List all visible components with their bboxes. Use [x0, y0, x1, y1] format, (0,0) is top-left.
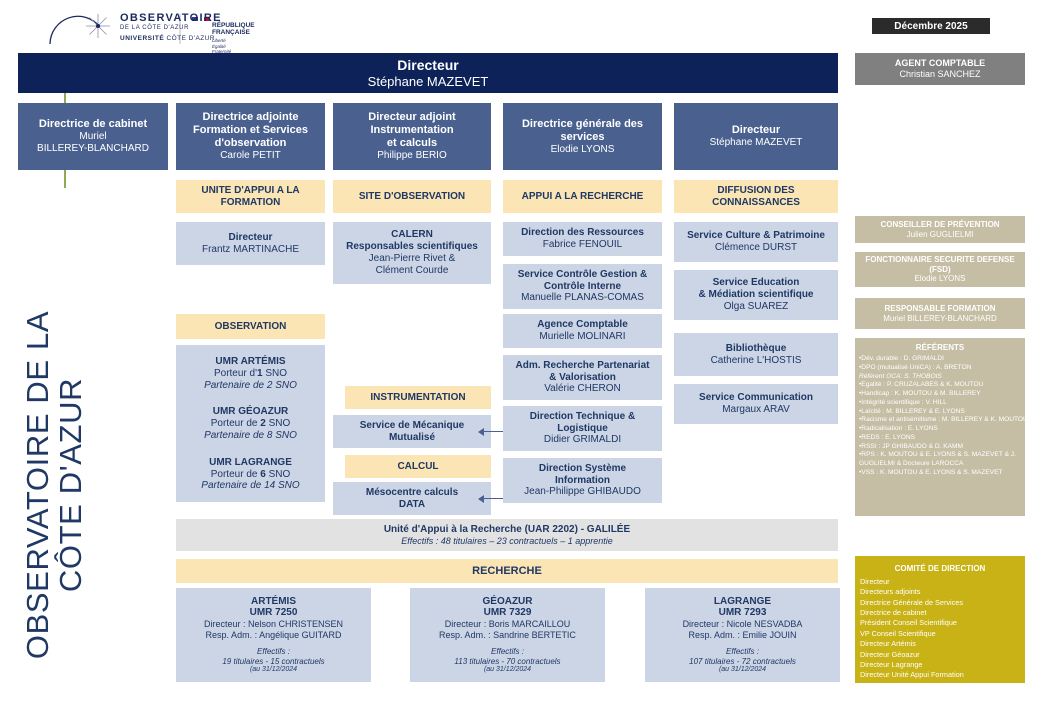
umr-effectifs: 107 titulaires - 72 contractuels: [689, 657, 796, 666]
section-header-line2: CONNAISSANCES: [712, 197, 800, 209]
page-title-line1: OBSERVATOIRE DE LA: [22, 311, 55, 659]
observation-unit-geoazur: UMR GÉOAZUR Porteur de 2 SNO Partenaire …: [180, 403, 321, 444]
card-direction-technique-logistique: Direction Technique & Logistique Didier …: [503, 406, 662, 451]
card-direction-systeme-information: Direction Système Information Jean-Phili…: [503, 458, 662, 503]
card-name: Elodie LYONS: [915, 274, 966, 283]
card-title: CALERN: [391, 229, 433, 241]
section-header-calcul: CALCUL: [345, 455, 491, 478]
card-subtitle: Responsables scientifiques: [346, 241, 478, 253]
card-title: Bibliothèque: [726, 343, 787, 355]
date-badge: Décembre 2025: [872, 18, 990, 34]
logo-title-line1: OBSERVATOIRE: [120, 12, 222, 24]
umr-effectifs-label: Effectifs :: [491, 647, 524, 656]
comite-item: VP Conseil Scientifique: [860, 629, 1030, 639]
card-name-line2: Clément Courde: [376, 265, 449, 277]
referents-list: •Dév. durable : D. GRIMALDI •DPO (mutual…: [855, 355, 1033, 478]
observation-unit-lagrange: UMR LAGRANGE Porteur de 6 SNO Partenaire…: [180, 454, 321, 495]
umr-effectifs-label: Effectifs :: [726, 647, 759, 656]
umr-code: UMR 7250: [250, 607, 298, 619]
logo-area: OBSERVATOIRE DE LA CÔTE D'AZUR UNIVERSIT…: [40, 10, 340, 50]
card-name: Philippe BERIO: [377, 150, 446, 162]
unit-porteur: Porteur d'1 SNO: [214, 368, 287, 380]
comite-item: Directeur Artémis: [860, 639, 1030, 649]
umr-resp-adm: Resp. Adm. : Emilie JOUIN: [688, 630, 796, 641]
section-header-diffusion: DIFFUSION DES CONNAISSANCES: [674, 180, 838, 213]
card-name: Olga SUAREZ: [724, 301, 788, 313]
card-title-line1: Direction Système: [539, 463, 626, 475]
card-agence-comptable: Agence Comptable Murielle MOLINARI: [503, 314, 662, 348]
umr-code: UMR 7293: [719, 607, 767, 619]
card-title-line3: d'observation: [215, 137, 287, 150]
card-mesocentre: Mésocentre calculs DATA: [333, 482, 491, 515]
card-title-line3: et calculs: [387, 137, 437, 150]
card-title: Agence Comptable: [537, 319, 628, 331]
referent-item: •Radicalisation : E. LYONS: [859, 425, 1029, 434]
comite-item: Directeur Géoazur: [860, 650, 1030, 660]
umr-name: ARTÉMIS: [251, 596, 296, 608]
card-directeur-diffusion: Directeur Stéphane MAZEVET: [674, 103, 838, 170]
card-title: RESPONSABLE FORMATION: [885, 304, 996, 313]
card-title: Service Communication: [699, 392, 813, 404]
top-banner-directeur: Directeur Stéphane MAZEVET: [18, 53, 838, 93]
card-name: Margaux ARAV: [722, 404, 790, 416]
card-responsable-formation: RESPONSABLE FORMATION Muriel BILLEREY-BL…: [855, 298, 1025, 329]
card-name-line2: BILLEREY-BLANCHARD: [37, 143, 149, 155]
referent-item: •RSSI : JP GHIBAUDO & D. KAMM: [859, 443, 1029, 452]
card-referents: RÉFÉRENTS •Dév. durable : D. GRIMALDI •D…: [855, 338, 1025, 516]
referent-item: •Racisme et antisémitisme : M. BILLEREY …: [859, 416, 1029, 425]
card-direction-ressources: Direction des Ressources Fabrice FENOUIL: [503, 222, 662, 256]
card-name: Clémence DURST: [715, 242, 797, 254]
card-title-line2: Mutualisé: [389, 432, 435, 444]
comite-item: Directeur: [860, 577, 1030, 587]
section-header-label: APPUI A LA RECHERCHE: [522, 191, 644, 203]
section-header-appui-recherche: APPUI A LA RECHERCHE: [503, 180, 662, 213]
card-title-line1: Directeur adjoint: [368, 111, 455, 124]
umr-effectifs: 19 titulaires - 15 contractuels: [222, 657, 324, 666]
card-directeur-adjoint-instrumentation: Directeur adjoint Instrumentation et cal…: [333, 103, 491, 170]
unit-partenaire: Partenaire de 8 SNO: [204, 430, 297, 442]
card-title: Service Culture & Patrimoine: [687, 230, 825, 242]
card-bibliotheque: Bibliothèque Catherine L'HOSTIS: [674, 333, 838, 376]
unit-title: UMR GÉOAZUR: [213, 406, 289, 418]
section-header-observation: OBSERVATION: [176, 314, 325, 339]
umr-directeur: Directeur : Boris MARCAILLOU: [445, 619, 571, 630]
card-name: Catherine L'HOSTIS: [711, 355, 802, 367]
card-title-line1: Directrice générale des: [522, 118, 643, 131]
card-name-line1: Jean-Pierre Rivet &: [369, 253, 456, 265]
unit-title: UMR LAGRANGE: [209, 457, 292, 469]
section-header-site-observation: SITE D'OBSERVATION: [333, 180, 491, 213]
unit-partenaire: Partenaire de 14 SNO: [201, 480, 299, 492]
umr-resp-adm: Resp. Adm. : Angélique GUITARD: [206, 630, 342, 641]
card-directrice-generale-services: Directrice générale des services Elodie …: [503, 103, 662, 170]
card-title-line2: DATA: [399, 499, 425, 511]
section-header-label: OBSERVATION: [215, 321, 287, 333]
section-header-recherche: RECHERCHE: [176, 559, 838, 583]
card-directrice-adjointe-formation: Directrice adjointe Formation et Service…: [176, 103, 325, 170]
section-header-line1: DIFFUSION DES: [717, 185, 794, 197]
referent-item: •Handicap : K. MOUTOU & M. BILLEREY: [859, 390, 1029, 399]
card-name: Christian SANCHEZ: [899, 69, 980, 80]
comite-item: Directeurs adjoints: [860, 587, 1030, 597]
umr-name: GÉOAZUR: [483, 596, 533, 608]
top-banner-name: Stéphane MAZEVET: [368, 74, 489, 89]
card-name: Manuelle PLANAS-COMAS: [521, 292, 644, 304]
referent-item: •RPS : K. MOUTOU & E. LYONS & S. MAZEVET…: [859, 451, 1029, 469]
umr-effectifs-label: Effectifs :: [257, 647, 290, 656]
section-header-line1: UNITE D'APPUI A LA: [201, 185, 299, 197]
card-service-education-mediation: Service Education & Médiation scientifiq…: [674, 270, 838, 320]
card-name: Julien GUGLIELMI: [907, 230, 974, 239]
card-name: Frantz MARTINACHE: [202, 244, 299, 256]
card-title-line2: services: [560, 131, 604, 144]
referent-item: •Laïcité : M. BILLEREY & E. LYONS: [859, 408, 1029, 417]
marianne-line2: FRANÇAISE: [212, 29, 255, 36]
card-title-line2: & Médiation scientifique: [698, 289, 813, 301]
card-title-line1: Service Contrôle Gestion &: [518, 269, 647, 281]
page-title-vertical: OBSERVATOIRE DE LA CÔTE D'AZUR: [0, 255, 110, 715]
section-header-label: CALCUL: [397, 461, 438, 473]
card-title-line2: Instrumentation: [370, 124, 453, 137]
referent-item: •DPO (mutualisé UniCA) : A. BRETON: [859, 364, 1029, 373]
unit-title: UMR ARTÉMIS: [215, 356, 285, 368]
umr-code: UMR 7329: [484, 607, 532, 619]
section-header-label: INSTRUMENTATION: [370, 392, 465, 404]
comite-list: Directeur Directeurs adjoints Directrice…: [855, 577, 1035, 681]
card-name: Murielle MOLINARI: [539, 331, 625, 343]
card-name: Didier GRIMALDI: [544, 434, 621, 446]
card-name: Muriel BILLEREY-BLANCHARD: [883, 314, 997, 323]
card-title: Directeur: [229, 232, 273, 244]
umr-as-of: (au 31/12/2024: [719, 666, 766, 674]
umr-directeur: Directeur : Nicole NESVADBA: [683, 619, 803, 630]
card-name: Carole PETIT: [220, 150, 281, 162]
section-header-formation: UNITE D'APPUI A LA FORMATION: [176, 180, 325, 213]
section-header-label: RECHERCHE: [472, 565, 542, 578]
umr-effectifs: 113 titulaires - 70 contractuels: [454, 657, 560, 666]
referent-item: •Dév. durable : D. GRIMALDI: [859, 355, 1029, 364]
umr-as-of: (au 31/12/2024: [250, 666, 297, 674]
card-title: CONSEILLER DE PRÉVENTION: [880, 220, 999, 229]
section-header-line2: FORMATION: [221, 197, 281, 209]
unit-porteur: Porteur de 2 SNO: [211, 418, 291, 430]
card-formation-directeur: Directeur Frantz MARTINACHE: [176, 222, 325, 265]
uar-effectifs: Effectifs : 48 titulaires – 23 contractu…: [401, 536, 613, 547]
card-name: Stéphane MAZEVET: [710, 137, 803, 149]
unit-partenaire: Partenaire de 2 SNO: [204, 380, 297, 392]
section-header-instrumentation: INSTRUMENTATION: [345, 386, 491, 409]
comite-item: Directeur Lagrange: [860, 660, 1030, 670]
umr-directeur: Directeur : Nelson CHRISTENSEN: [204, 619, 343, 630]
card-title-line2: Formation et Services: [193, 124, 308, 137]
card-service-culture-patrimoine: Service Culture & Patrimoine Clémence DU…: [674, 222, 838, 262]
comite-title: COMITÉ DE DIRECTION: [855, 564, 1025, 573]
referent-item: •REDS : E. LYONS: [859, 434, 1029, 443]
card-title: AGENT COMPTABLE: [895, 58, 985, 69]
card-title: Directrice de cabinet: [39, 118, 147, 131]
logo-universite-bold: UNIVERSITÉ: [120, 35, 164, 42]
card-title-line2: (FSD): [929, 265, 950, 274]
marianne-line1: RÉPUBLIQUE: [212, 22, 255, 29]
uar-galilee-bar: Unité d'Appui à la Recherche (UAR 2202) …: [176, 519, 838, 551]
card-title-line2: Contrôle Interne: [544, 281, 621, 293]
unit-porteur: Porteur de 6 SNO: [211, 469, 291, 481]
card-title-line1: Directeur: [732, 124, 780, 137]
comite-item: Directeur Unité Appui Formation: [860, 670, 1030, 680]
observation-units-group: UMR ARTÉMIS Porteur d'1 SNO Partenaire d…: [176, 345, 325, 502]
card-title-line1: Mésocentre calculs: [366, 487, 458, 499]
card-title-line1: FONCTIONNAIRE SECURITE DEFENSE: [865, 255, 1014, 264]
referent-item: •Egalité : P. CRUZALABES & K. MOUTOU: [859, 381, 1029, 390]
comite-item: Président Conseil Scientifique: [860, 618, 1030, 628]
card-name: Jean-Philippe GHIBAUDO: [524, 486, 641, 498]
card-comite-direction: COMITÉ DE DIRECTION Directeur Directeurs…: [855, 556, 1025, 683]
connector-green-bottom: [64, 170, 66, 188]
umr-as-of: (au 31/12/2024: [484, 666, 531, 674]
card-service-communication: Service Communication Margaux ARAV: [674, 384, 838, 424]
card-name: Fabrice FENOUIL: [543, 239, 622, 251]
card-directrice-cabinet: Directrice de cabinet Muriel BILLEREY-BL…: [18, 103, 168, 170]
card-title: Direction des Ressources: [521, 227, 644, 239]
card-title-line1: Adm. Recherche Partenariat: [516, 360, 650, 372]
card-conseiller-prevention: CONSEILLER DE PRÉVENTION Julien GUGLIELM…: [855, 216, 1025, 243]
section-header-label: SITE D'OBSERVATION: [359, 191, 465, 203]
card-title-line2: Logistique: [557, 423, 608, 435]
top-banner-title: Directeur: [397, 57, 458, 74]
comite-item: Directrice de cabinet: [860, 608, 1030, 618]
referent-item: •Intégrité scientifique : V. HILL: [859, 399, 1029, 408]
umr-resp-adm: Resp. Adm. : Sandrine BERTETIC: [439, 630, 576, 641]
card-fsd: FONCTIONNAIRE SECURITE DEFENSE (FSD) Elo…: [855, 252, 1025, 287]
card-title-line1: Service de Mécanique: [360, 420, 465, 432]
card-title-line1: Direction Technique &: [530, 411, 635, 423]
connector-green-top: [64, 93, 66, 103]
card-controle-gestion: Service Contrôle Gestion & Contrôle Inte…: [503, 264, 662, 309]
referent-item: •VSS : K. MOUTOU & E. LYONS & S. MAZEVET: [859, 469, 1029, 478]
card-calern: CALERN Responsables scientifiques Jean-P…: [333, 222, 491, 284]
card-name: Elodie LYONS: [551, 144, 615, 156]
card-umr-geoazur: GÉOAZUR UMR 7329 Directeur : Boris MARCA…: [410, 588, 605, 682]
card-umr-artemis: ARTÉMIS UMR 7250 Directeur : Nelson CHRI…: [176, 588, 371, 682]
referents-title: RÉFÉRENTS: [855, 343, 1025, 352]
card-title-line2: & Valorisation: [549, 372, 616, 384]
card-name-line1: Muriel: [79, 131, 106, 143]
card-name: Valérie CHERON: [544, 383, 621, 395]
comite-item: Directrice Générale de Services: [860, 598, 1030, 608]
card-umr-lagrange: LAGRANGE UMR 7293 Directeur : Nicole NES…: [645, 588, 840, 682]
card-title-line2: Information: [555, 475, 610, 487]
page-title-line2: CÔTE D'AZUR: [55, 378, 88, 592]
logo-title-line2: DE LA CÔTE D'AZUR: [120, 25, 222, 31]
card-title-line1: Directrice adjointe: [203, 111, 299, 124]
uar-title: Unité d'Appui à la Recherche (UAR 2202) …: [384, 524, 630, 536]
card-service-mecanique: Service de Mécanique Mutualisé: [333, 415, 491, 448]
card-agent-comptable: AGENT COMPTABLE Christian SANCHEZ: [855, 53, 1025, 85]
observation-unit-artemis: UMR ARTÉMIS Porteur d'1 SNO Partenaire d…: [180, 353, 321, 394]
umr-name: LAGRANGE: [714, 596, 771, 608]
logo-universite-rest: CÔTE D'AZUR: [166, 35, 215, 42]
card-title-line1: Service Education: [713, 277, 800, 289]
referent-item: Référent OCA: S. THOBOIS: [859, 373, 1029, 382]
card-adm-recherche-partenariat: Adm. Recherche Partenariat & Valorisatio…: [503, 355, 662, 400]
